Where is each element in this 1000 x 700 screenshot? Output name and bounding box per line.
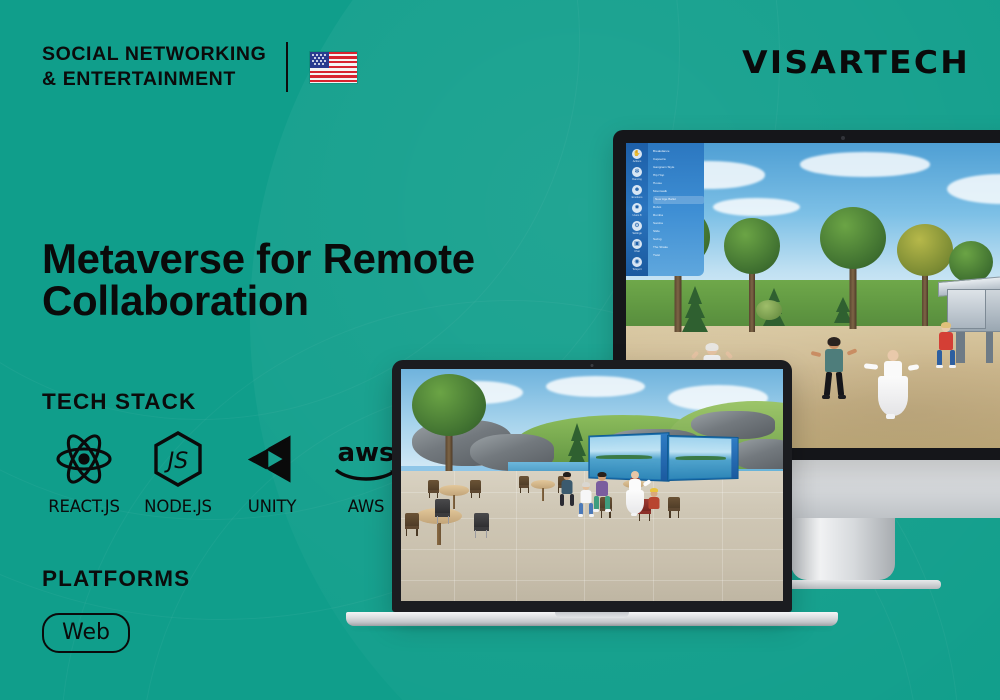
header-divider bbox=[286, 42, 288, 92]
macbook-base bbox=[346, 612, 838, 626]
imac-stand-neck bbox=[791, 518, 895, 580]
nodejs-icon: JS bbox=[152, 430, 204, 488]
users-icon: ✸ bbox=[632, 203, 642, 213]
dance-list-item[interactable]: Gangnam Style bbox=[653, 164, 704, 172]
tree bbox=[895, 222, 955, 326]
chair bbox=[405, 513, 419, 535]
chair bbox=[470, 480, 481, 497]
us-flag-icon bbox=[310, 52, 357, 83]
chair bbox=[435, 499, 450, 523]
category-line-2: & ENTERTAINMENT bbox=[42, 67, 266, 92]
teleport-icon: ◉ bbox=[632, 257, 642, 267]
tech-stack-item-nodejs: JS NODE.JS bbox=[136, 430, 220, 516]
dance-list-item[interactable]: The Shake bbox=[653, 244, 704, 252]
dance-icon: ✻ bbox=[632, 167, 642, 177]
game-menu-rail[interactable]: ✋ Actions ✻ Dancing ☻ Emotions ✸ bbox=[626, 143, 648, 276]
tech-stack-item-label: NODE.JS bbox=[144, 497, 212, 516]
platforms-list: Web bbox=[42, 613, 130, 653]
dance-list-item[interactable]: Slide bbox=[653, 228, 704, 236]
tech-stack-item-label: REACT.JS bbox=[48, 497, 120, 516]
macbook-shadow bbox=[352, 626, 832, 631]
dance-list[interactable]: Breakdance Capoeira Gangnam Style Hip Ho… bbox=[648, 143, 704, 276]
table bbox=[531, 480, 555, 500]
rail-item-label: Users 8 bbox=[633, 214, 642, 217]
game-menu-rail-item-settings[interactable]: ⚙ Settings bbox=[627, 219, 647, 236]
hand-icon: ✋ bbox=[632, 149, 642, 159]
svg-text:JS: JS bbox=[164, 449, 188, 474]
case-study-card: SOCIAL NETWORKING & ENTERTAINMENT bbox=[0, 0, 1000, 700]
chair bbox=[474, 513, 489, 537]
dance-list-item[interactable]: House bbox=[653, 180, 704, 188]
tree bbox=[817, 203, 889, 329]
header: SOCIAL NETWORKING & ENTERTAINMENT bbox=[42, 42, 357, 92]
rail-item-label: Settings bbox=[632, 232, 641, 235]
rail-item-label: Chat bbox=[634, 250, 639, 253]
avatar bbox=[623, 471, 647, 536]
platform-badge-web: Web bbox=[42, 613, 130, 653]
chat-icon: ▣ bbox=[632, 239, 642, 249]
avatar bbox=[934, 323, 958, 402]
game-menu-rail-item-users[interactable]: ✸ Users 8 bbox=[627, 201, 647, 218]
game-menu-rail-item-emotions[interactable]: ☻ Emotions bbox=[627, 183, 647, 200]
react-icon bbox=[55, 430, 113, 488]
rail-item-label: Teleport bbox=[632, 268, 641, 271]
game-menu-rail-item-chat[interactable]: ▣ Chat bbox=[627, 237, 647, 254]
avatar bbox=[592, 473, 612, 529]
game-menu-rail-item-dancing[interactable]: ✻ Dancing bbox=[627, 165, 647, 182]
dance-list-item[interactable]: Samba bbox=[653, 220, 704, 228]
chair bbox=[668, 497, 680, 517]
presentation-screen bbox=[667, 435, 738, 481]
dance-list-item[interactable]: Capoeira bbox=[653, 156, 704, 164]
dance-list-item[interactable]: Hip Hop bbox=[653, 172, 704, 180]
dance-list-item[interactable]: Rumba bbox=[653, 212, 704, 220]
smiley-icon: ☻ bbox=[632, 185, 642, 195]
tech-stack-item-label: AWS bbox=[348, 497, 385, 516]
category-label: SOCIAL NETWORKING & ENTERTAINMENT bbox=[42, 42, 266, 92]
platforms-heading: PLATFORMS bbox=[42, 566, 190, 592]
tech-stack-item-unity: UNITY bbox=[230, 430, 314, 516]
avatar bbox=[817, 338, 851, 436]
macbook-bezel bbox=[392, 360, 792, 612]
tech-stack-heading: TECH STACK bbox=[42, 389, 196, 415]
unity-icon bbox=[245, 430, 299, 488]
laptop-screen-terrace-scene bbox=[401, 369, 783, 601]
chair bbox=[519, 476, 529, 492]
svg-text:aws: aws bbox=[337, 438, 394, 468]
laptop-device-mockup bbox=[392, 360, 792, 612]
macbook-notch bbox=[555, 612, 629, 618]
rail-item-label: Dancing bbox=[632, 178, 642, 181]
dance-list-item[interactable]: Moonwalk bbox=[653, 188, 704, 196]
rail-item-label: Emotions bbox=[632, 196, 643, 199]
webcam-icon bbox=[841, 136, 845, 140]
category-line-1: SOCIAL NETWORKING bbox=[42, 42, 266, 67]
tech-stack-list: REACT.JS JS NODE.JS UNITY bbox=[42, 430, 408, 516]
tech-stack-item-label: UNITY bbox=[248, 497, 296, 516]
gear-icon: ⚙ bbox=[632, 221, 642, 231]
dance-list-item[interactable]: Twist bbox=[653, 252, 704, 260]
game-menu-rail-item-teleport[interactable]: ◉ Teleport bbox=[627, 255, 647, 272]
dance-list-item[interactable]: Robot bbox=[653, 204, 704, 212]
dance-list-item-selected[interactable]: New Age Ballet bbox=[653, 196, 704, 204]
page-title: Metaverse for Remote Collaboration bbox=[42, 238, 562, 322]
chair bbox=[428, 480, 439, 497]
rock bbox=[691, 411, 775, 439]
game-side-menu[interactable]: ✋ Actions ✻ Dancing ☻ Emotions ✸ bbox=[626, 143, 704, 276]
tech-stack-item-react: REACT.JS bbox=[42, 430, 126, 516]
dance-list-item[interactable]: Swing bbox=[653, 236, 704, 244]
dance-list-item[interactable]: Breakdance bbox=[653, 148, 704, 156]
avatar bbox=[873, 350, 913, 448]
game-menu-rail-item-actions[interactable]: ✋ Actions bbox=[627, 147, 647, 164]
webcam-icon bbox=[591, 364, 594, 367]
rail-item-label: Actions bbox=[633, 160, 642, 163]
avatar bbox=[558, 473, 576, 524]
avatar bbox=[645, 490, 663, 532]
brand-logo: VISARTECH bbox=[742, 45, 970, 81]
